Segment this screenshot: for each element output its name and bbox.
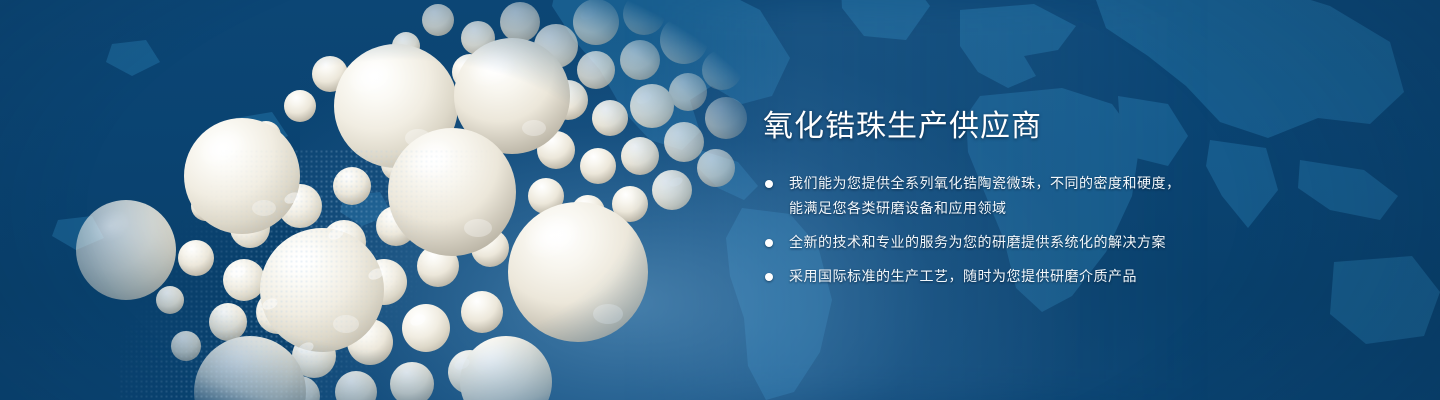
bullet-dot-icon [765, 180, 773, 188]
bullet-1-line-1: 我们能为您提供全系列氧化锆陶瓷微珠，不同的密度和硬度， [789, 171, 1363, 196]
bullet-dot-icon [765, 239, 773, 247]
banner-copy: 氧化锆珠生产供应商 我们能为您提供全系列氧化锆陶瓷微珠，不同的密度和硬度， 能满… [763, 108, 1363, 289]
bullet-dot-icon [765, 273, 773, 281]
bullet-3-line-1: 采用国际标准的生产工艺，随时为您提供研磨介质产品 [789, 264, 1363, 289]
bullet-item-3: 采用国际标准的生产工艺，随时为您提供研磨介质产品 [763, 264, 1363, 289]
banner-headline: 氧化锆珠生产供应商 [763, 108, 1363, 146]
promo-banner: 氧化锆珠生产供应商 我们能为您提供全系列氧化锆陶瓷微珠，不同的密度和硬度， 能满… [0, 0, 1440, 400]
banner-bullet-list: 我们能为您提供全系列氧化锆陶瓷微珠，不同的密度和硬度， 能满足您各类研磨设备和应… [763, 171, 1363, 289]
bullet-2-line-1: 全新的技术和专业的服务为您的研磨提供系统化的解决方案 [789, 230, 1363, 255]
bullet-item-1: 我们能为您提供全系列氧化锆陶瓷微珠，不同的密度和硬度， 能满足您各类研磨设备和应… [763, 171, 1363, 221]
bullet-item-2: 全新的技术和专业的服务为您的研磨提供系统化的解决方案 [763, 230, 1363, 255]
bullet-1-line-2: 能满足您各类研磨设备和应用领域 [789, 196, 1363, 221]
